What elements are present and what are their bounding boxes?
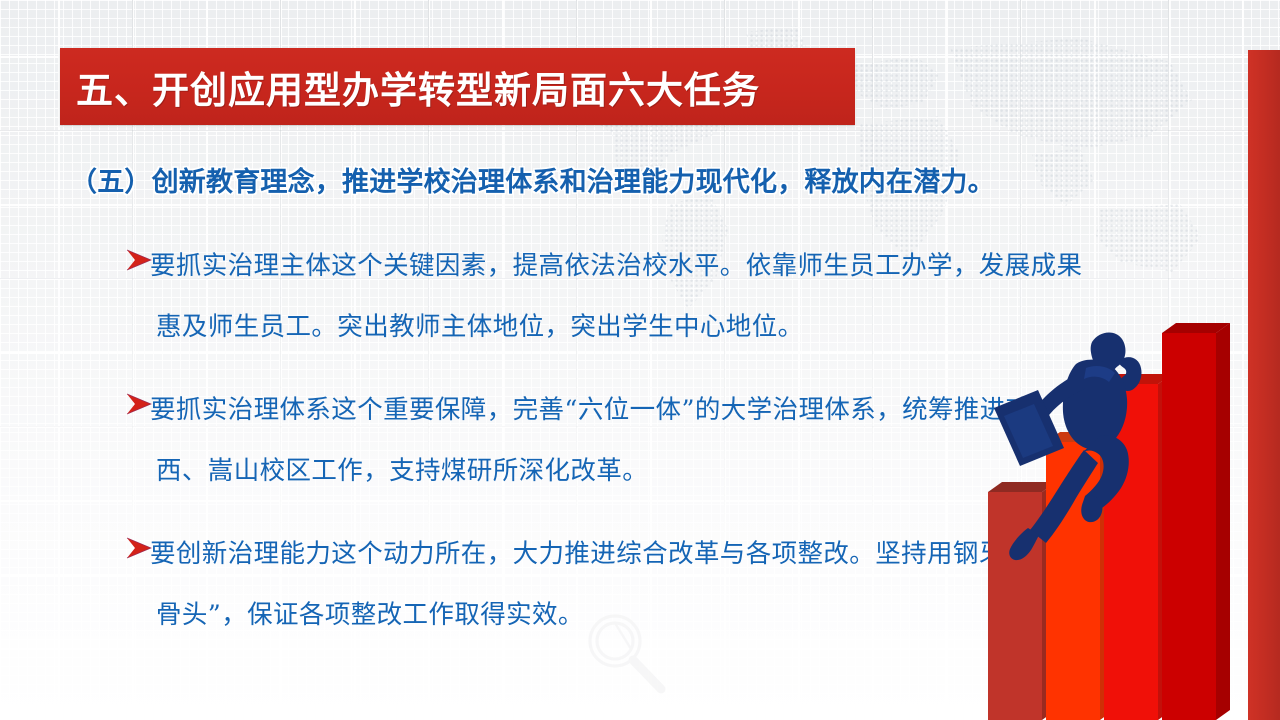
bullet-list: 要抓实治理主体这个关键因素，提高依法治校水平。依靠师生员工办学，发展成果惠及师生…: [126, 236, 1086, 668]
list-item: 要创新治理能力这个动力所在，大力推进综合改革与各项整改。坚持用钢牙啃“硬骨头”，…: [126, 524, 1086, 646]
list-item-text: 要创新治理能力这个动力所在，大力推进综合改革与各项整改。坚持用钢牙啃“硬骨头”，…: [156, 524, 1071, 646]
page-title: 五、开创应用型办学转型新局面六大任务: [76, 60, 760, 114]
section-title-bar: 五、开创应用型办学转型新局面六大任务: [60, 48, 855, 125]
bar-3: [1104, 374, 1172, 720]
list-item-text: 要抓实治理主体这个关键因素，提高依法治校水平。依靠师生员工办学，发展成果惠及师生…: [156, 236, 1086, 358]
arrow-bullet-icon: [126, 393, 152, 415]
arrow-bullet-icon: [126, 249, 152, 271]
list-item-text: 要抓实治理体系这个重要保障，完善“六位一体”的大学治理体系，统筹推进鸡西、嵩山校…: [156, 380, 1071, 502]
slide-canvas: 五、开创应用型办学转型新局面六大任务 （五）创新教育理念，推进学校治理体系和治理…: [0, 0, 1280, 720]
arrow-bullet-icon: [126, 537, 152, 559]
list-item: 要抓实治理主体这个关键因素，提高依法治校水平。依靠师生员工办学，发展成果惠及师生…: [126, 236, 1086, 358]
list-item: 要抓实治理体系这个重要保障，完善“六位一体”的大学治理体系，统筹推进鸡西、嵩山校…: [126, 380, 1086, 502]
section-subtitle: （五）创新教育理念，推进学校治理体系和治理能力现代化，释放内在潜力。: [70, 160, 1200, 199]
bar-4: [1162, 323, 1230, 720]
right-accent-band: [1248, 50, 1280, 720]
